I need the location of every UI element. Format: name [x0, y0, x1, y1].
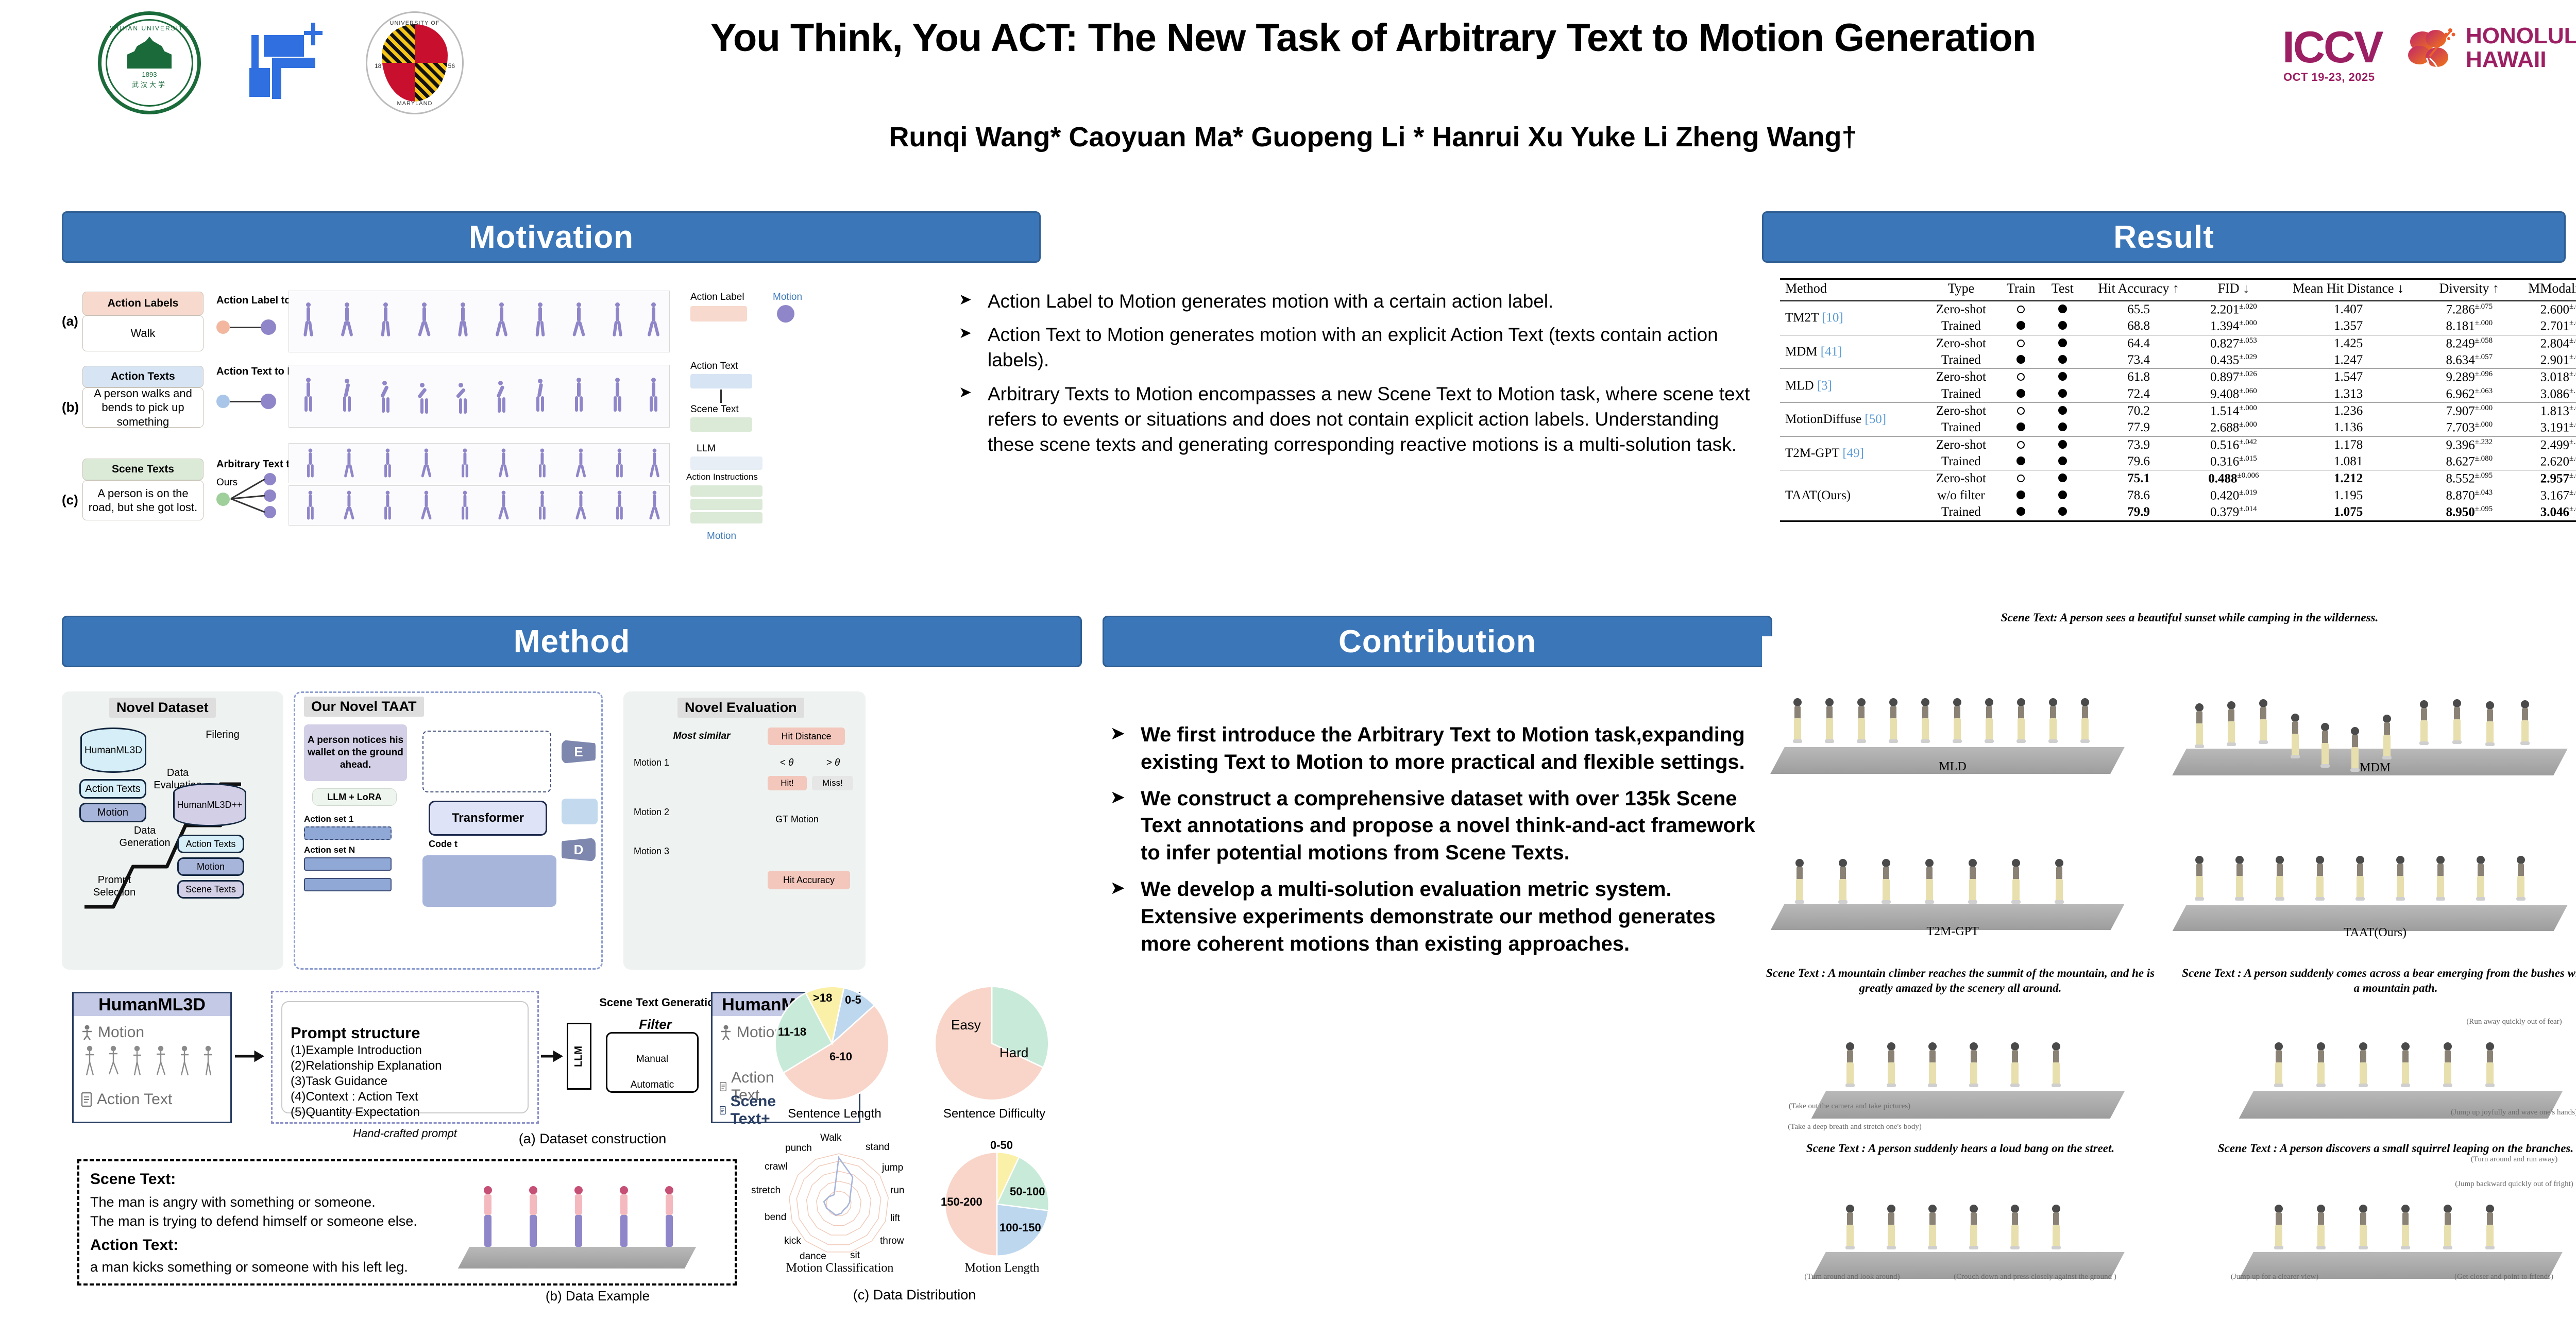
motivation-fan-edges-icon — [227, 469, 273, 526]
qualitative-subnote-6: (Crouch down and press closely against t… — [1927, 1273, 2143, 1281]
cell-mmodality: 3.191±.000 — [2513, 419, 2576, 436]
marker-filled-icon — [2016, 456, 2025, 465]
cell-test — [2044, 419, 2081, 436]
humanml3dpp-db-label: HumanML3D++ — [173, 800, 246, 811]
chart-caption-motion-length: Motion Length — [938, 1261, 1066, 1275]
radar-gridline — [817, 1181, 861, 1225]
results-table: Method Type Train Test Hit Accuracy ↑ FI… — [1780, 278, 2576, 522]
dataset-construction-caption: (a) Dataset construction — [433, 1131, 752, 1147]
cell-diversity: 9.396±.232 — [2426, 436, 2513, 453]
marker-filled-icon — [2058, 440, 2067, 449]
cell-hit-accuracy: 79.9 — [2081, 504, 2196, 521]
cell-mean-hit-distance: 1.236 — [2271, 402, 2426, 419]
lab-logo-bar-3 — [249, 68, 270, 97]
motivation-edge-b — [230, 401, 261, 402]
cell-train — [1998, 419, 2044, 436]
radar-gridline — [789, 1154, 888, 1252]
taat-quantizer-block — [562, 799, 598, 824]
document-plus-icon — [719, 1103, 726, 1118]
radar-gridline — [796, 1161, 880, 1245]
contribution-bullet-1: We first introduce the Arbitrary Text to… — [1108, 721, 1762, 776]
motivation-filmstrip-c2 — [289, 485, 670, 526]
qualitative-subnote-4: (Jump up joyfully and wave one's hands) — [2421, 1108, 2576, 1117]
taat-action-set-1-label: Action set 1 — [304, 814, 381, 824]
data-example-caption: (b) Data Example — [453, 1288, 742, 1304]
evaluation-threshold-gt: > θ — [815, 757, 851, 769]
evaluation-motion-1-label: Motion 1 — [634, 757, 690, 769]
motivation-node-a-out — [261, 319, 276, 335]
poster-header: WUHAN UNIVERSITY 1893 武汉大学 UNIVERSITY OF… — [0, 0, 2576, 180]
section-banner-method: Method — [62, 616, 1082, 667]
qualitative-subnote-2: (Take a deep breath and stretch one's bo… — [1762, 1123, 1947, 1131]
cell-train — [1998, 470, 2044, 487]
dc-prompt-title: Prompt structure — [291, 1024, 420, 1042]
cell-train — [1998, 352, 2044, 369]
cell-test — [2044, 402, 2081, 419]
motivation-card-body-b: A person walks and bends to pick up some… — [82, 387, 204, 428]
cell-test — [2044, 335, 2081, 352]
motivation-bullet-1: Action Label to Motion generates motion … — [956, 289, 1759, 314]
hml3dpp-item-action-texts: Action Texts — [177, 835, 244, 853]
taat-encoder-block: E — [562, 740, 596, 764]
radar-label-jump: jump — [882, 1162, 903, 1174]
qualitative-caption-2: Scene Text : A person suddenly comes acr… — [2179, 966, 2576, 996]
data-example-scene-line-1: The man is angry with something or someo… — [90, 1194, 376, 1210]
contribution-bullet-list: We first introduce the Arbitrary Text to… — [1108, 721, 1762, 967]
qualitative-main-caption: Scene Text: A person sees a beautiful su… — [1793, 611, 2576, 625]
cell-test — [2044, 369, 2081, 386]
dc-left-row-action-text-label: Action Text — [97, 1091, 172, 1108]
cell-type: w/o filter — [1924, 487, 1998, 504]
marker-open-icon — [2017, 340, 2025, 347]
cell-mmodality: 2.701±.000 — [2513, 318, 2576, 335]
cell-hit-accuracy: 77.9 — [2081, 419, 2196, 436]
cell-train — [1998, 453, 2044, 470]
lab-logo — [242, 21, 350, 108]
cell-mean-hit-distance: 1.081 — [2271, 453, 2426, 470]
evaluation-hit-distance-chip: Hit Distance — [768, 728, 845, 745]
motivation-flow-label-a-in: Action Label — [690, 292, 744, 303]
cell-train — [1998, 436, 2044, 453]
table-row: TM2T [10]Zero-shot65.52.201±.0201.4077.2… — [1780, 301, 2576, 318]
marker-filled-icon — [2058, 474, 2067, 482]
cell-method: T2M-GPT [49] — [1780, 436, 1924, 470]
cell-diversity: 8.181±.000 — [2426, 318, 2513, 335]
evaluation-miss-chip: Miss! — [812, 776, 853, 790]
pie-label-easy: Easy — [951, 1017, 981, 1033]
motivation-card-header-c: Scene Texts — [82, 459, 204, 480]
cell-hit-accuracy: 78.6 — [2081, 487, 2196, 504]
dc-scene-text-generation-label: Scene Text Generation — [526, 996, 721, 1009]
dancer-figure — [662, 1186, 677, 1253]
cell-hit-accuracy: 61.8 — [2081, 369, 2196, 386]
arrow-right-icon — [235, 1050, 269, 1063]
cell-mmodality: 2.499±.348 — [2513, 436, 2576, 453]
qualitative-subnote-5: (Turn around and look around) — [1767, 1273, 1937, 1281]
lab-logo-bar-5 — [272, 58, 315, 68]
taat-title: Our Novel TAAT — [304, 697, 424, 717]
cell-train — [1998, 318, 2044, 335]
evaluation-hit-chip: Hit! — [768, 776, 807, 790]
marker-open-icon — [2017, 306, 2025, 313]
cell-type: Zero-shot — [1924, 335, 1998, 352]
dancer-figure — [571, 1186, 586, 1253]
cell-mmodality: 3.167±.053 — [2513, 487, 2576, 504]
dc-llm-block: LLM — [567, 1023, 591, 1090]
dc-left-box-title: HumanML3D — [74, 993, 230, 1016]
marker-filled-icon — [2058, 491, 2067, 499]
evaluation-threshold-lt: < θ — [769, 757, 805, 769]
col-mean-hit-distance: Mean Hit Distance ↓ — [2271, 279, 2426, 301]
motivation-card-header-a: Action Labels — [82, 292, 204, 315]
chart-caption-sentence-length: Sentence Length — [762, 1107, 907, 1121]
cell-type: Zero-shot — [1924, 470, 1998, 487]
taat-codebook — [422, 855, 556, 907]
dc-filter-label: Filter — [614, 1017, 697, 1033]
qualitative-subnote-3: (Run away quickly out of fear) — [2427, 1018, 2576, 1026]
dc-left-row-motion: Motion — [80, 1024, 144, 1041]
motivation-node-b-out — [261, 394, 276, 409]
marker-filled-icon — [2016, 355, 2025, 364]
pie-chart-sentence-difficulty — [933, 984, 1051, 1103]
maryland-university-logo: UNIVERSITY OF 18 56 MARYLAND — [366, 11, 464, 114]
motivation-chip-b-in — [690, 374, 752, 388]
dc-left-row-action-text: Action Text — [80, 1091, 172, 1108]
motivation-figure: (a) Action Labels Walk Action Label to M… — [62, 289, 866, 587]
cell-type: Trained — [1924, 504, 1998, 521]
novel-evaluation-title: Novel Evaluation — [677, 698, 804, 718]
motivation-chip-instr-3 — [690, 512, 762, 523]
cell-method: MLD [3] — [1780, 369, 1924, 403]
data-example-action-label: Action Text: — [90, 1237, 178, 1254]
radar-label-punch: punch — [785, 1143, 812, 1154]
pie-label-ml-0-50: 0-50 — [990, 1139, 1013, 1152]
hml3dpp-item-scene-texts: Scene Texts — [177, 880, 244, 899]
section-banner-contribution: Contribution — [1103, 616, 1772, 667]
taat-scene-text: A person notices his wallet on the groun… — [304, 724, 407, 781]
cell-mean-hit-distance: 1.425 — [2271, 335, 2426, 352]
col-method: Method — [1780, 279, 1924, 301]
cell-method: MotionDiffuse [50] — [1780, 402, 1924, 436]
qualitative-subnote-10: (Get closer and point to friends) — [2406, 1273, 2576, 1281]
motivation-action-instructions-label: Action Instructions — [686, 472, 758, 482]
cell-mmodality: 1.813±.000 — [2513, 402, 2576, 419]
table-row: MotionDiffuse [50]Zero-shot70.21.514±.00… — [1780, 402, 2576, 419]
cell-train — [1998, 335, 2044, 352]
cell-fid: 0.379±.014 — [2196, 504, 2271, 521]
cell-fid: 0.516±.042 — [2196, 436, 2271, 453]
cell-diversity: 8.950±.095 — [2426, 504, 2513, 521]
motivation-card-header-b: Action Texts — [82, 366, 204, 387]
cell-test — [2044, 318, 2081, 335]
radar-label-bend: bend — [765, 1212, 786, 1223]
contribution-bullet-3: We develop a multi-solution evaluation m… — [1108, 876, 1762, 957]
motivation-filmstrip-b — [289, 365, 670, 428]
lab-logo-plus-icon-h — [304, 31, 323, 35]
col-diversity: Diversity ↑ — [2426, 279, 2513, 301]
motivation-bullet-list: Action Label to Motion generates motion … — [956, 289, 1759, 465]
motivation-node-b-in — [216, 395, 230, 408]
qualitative-method-label-taat: TAAT(Ours) — [2164, 926, 2576, 940]
cell-mean-hit-distance: 1.075 — [2271, 504, 2426, 521]
motivation-flow-label-a-out: Motion — [773, 292, 802, 303]
col-type: Type — [1924, 279, 1998, 301]
cell-test — [2044, 436, 2081, 453]
evaluation-hit-accuracy-chip: Hit Accuracy — [768, 871, 850, 889]
qualitative-panel-r2c2: (Run away quickly out of fear) (Jump up … — [2179, 1002, 2576, 1136]
cell-mmodality: 3.018±.028 — [2513, 369, 2576, 386]
marker-filled-icon — [2058, 305, 2067, 313]
cell-mean-hit-distance: 1.357 — [2271, 318, 2426, 335]
qualitative-panel-r3c1: (Turn around and look around) (Crouch do… — [1757, 1170, 2159, 1298]
cell-test — [2044, 301, 2081, 318]
cell-diversity: 8.249±.058 — [2426, 335, 2513, 352]
document-icon-2 — [719, 1079, 727, 1094]
cell-type: Trained — [1924, 419, 1998, 436]
table-row: T2M-GPT [49]Zero-shot73.90.516±.0421.178… — [1780, 436, 2576, 453]
hibiscus-flower-icon — [2400, 18, 2462, 80]
evaluation-motion-3-label: Motion 3 — [634, 846, 690, 857]
motivation-card-body-a: Walk — [82, 315, 204, 351]
motivation-llm-label: LLM — [697, 443, 716, 454]
marker-open-icon — [2017, 475, 2025, 482]
marker-filled-icon — [2058, 339, 2067, 347]
cell-diversity: 8.627±.080 — [2426, 453, 2513, 470]
col-fid: FID ↓ — [2196, 279, 2271, 301]
radar-label-walk: Walk — [820, 1132, 842, 1144]
marker-open-icon — [2017, 441, 2025, 449]
evaluation-motion-2-label: Motion 2 — [634, 807, 690, 818]
cell-test — [2044, 386, 2081, 403]
radar-label-kick: kick — [784, 1236, 801, 1247]
taat-llm-lora: LLM + LoRA — [312, 788, 397, 806]
marker-filled-icon — [2058, 507, 2067, 516]
person-icon — [80, 1025, 94, 1040]
umd-logo-year-left: 18 — [375, 62, 381, 70]
motivation-flow-label-b-mid: Scene Text — [690, 404, 739, 415]
motivation-edge-a — [230, 327, 261, 328]
radar-gridline — [826, 1191, 851, 1216]
radar-label-run: run — [890, 1185, 904, 1196]
radar-series — [824, 1158, 853, 1215]
pie-label-ml-100-150: 100-150 — [999, 1221, 1041, 1235]
cell-hit-accuracy: 70.2 — [2081, 402, 2196, 419]
motivation-row-tag-a: (a) — [62, 313, 78, 329]
cell-diversity: 7.703±.000 — [2426, 419, 2513, 436]
radar-label-throw: throw — [880, 1236, 904, 1247]
poster-authors: Runqi Wang* Caoyuan Ma* Guopeng Li * Han… — [515, 121, 2231, 153]
taat-decoder-block: D — [562, 838, 596, 861]
cell-method: MDM [41] — [1780, 335, 1924, 369]
cell-train — [1998, 487, 2044, 504]
dc-prompt-item-2: (2)Relationship Explanation — [291, 1059, 442, 1073]
cell-diversity: 6.962±.063 — [2426, 386, 2513, 403]
wuhan-university-logo: WUHAN UNIVERSITY 1893 武汉大学 — [98, 11, 201, 114]
radar-label-dance: dance — [800, 1251, 826, 1262]
qualitative-caption-3: Scene Text : A person suddenly hears a l… — [1757, 1141, 2164, 1156]
marker-filled-icon — [2058, 456, 2067, 465]
results-table-container: Method Type Train Test Hit Accuracy ↑ FI… — [1780, 278, 2576, 522]
motivation-card-body-c: A person is on the road, but she got los… — [82, 480, 204, 520]
marker-filled-icon — [2016, 422, 2025, 431]
motivation-chip-a-out — [777, 305, 794, 323]
cell-mmodality: 2.804±.052 — [2513, 335, 2576, 352]
document-icon — [80, 1092, 93, 1107]
qualitative-subnote-7: (Jump backward quickly out of fright) — [2421, 1180, 2576, 1189]
hml3dpp-item-motion: Motion — [177, 857, 244, 876]
cell-fid: 9.408±.060 — [2196, 386, 2271, 403]
motivation-chip-instr-1 — [690, 485, 762, 497]
chart-caption-motion-classification: Motion Classification — [762, 1261, 917, 1275]
pie-label-hard: Hard — [999, 1045, 1028, 1061]
motivation-flow-label-b-in: Action Text — [690, 361, 738, 372]
pie-label-sl-11-18: 11-18 — [778, 1025, 806, 1039]
cell-mmodality: 2.901±.055 — [2513, 352, 2576, 369]
motivation-chip-b-mid — [690, 417, 752, 432]
cell-mmodality: 2.957±.070 — [2513, 470, 2576, 487]
marker-filled-icon — [2016, 491, 2025, 499]
col-train: Train — [1998, 279, 2044, 301]
cell-fid: 0.488±0.006 — [2196, 470, 2271, 487]
cell-test — [2044, 487, 2081, 504]
cell-fid: 0.420±.019 — [2196, 487, 2271, 504]
cell-train — [1998, 386, 2044, 403]
marker-filled-icon — [2016, 389, 2025, 398]
marker-filled-icon — [2058, 389, 2067, 398]
novel-dataset-title: Novel Dataset — [109, 698, 216, 718]
umd-logo-year-right: 56 — [448, 62, 455, 70]
taat-action-set-extra-bar — [304, 878, 392, 891]
cell-method: TAAT(Ours) — [1780, 470, 1924, 521]
cell-mean-hit-distance: 1.247 — [2271, 352, 2426, 369]
data-example-motion-figures — [433, 1170, 721, 1280]
radar-label-crawl: crawl — [765, 1161, 787, 1173]
cell-mean-hit-distance: 1.407 — [2271, 301, 2426, 318]
cell-mean-hit-distance: 1.136 — [2271, 419, 2426, 436]
section-banner-motivation: Motivation — [62, 211, 1041, 263]
radar-label-stretch: stretch — [751, 1185, 781, 1196]
section-banner-result: Result — [1762, 211, 2566, 263]
dataset-construction-figure: HumanML3D Motion Action Text — [72, 976, 737, 1141]
cell-method: TM2T [10] — [1780, 301, 1924, 335]
radar-label-lift: lift — [890, 1213, 900, 1224]
cell-fid: 2.688±.000 — [2196, 419, 2271, 436]
taat-action-set-1-bar — [304, 826, 392, 840]
cell-hit-accuracy: 73.4 — [2081, 352, 2196, 369]
cell-mmodality: 2.600±.094 — [2513, 301, 2576, 318]
cell-diversity: 8.870±.043 — [2426, 487, 2513, 504]
table-row: MLD [3]Zero-shot61.80.897±.0261.5479.289… — [1780, 369, 2576, 386]
table-row: MDM [41]Zero-shot64.40.827±.0531.4258.24… — [1780, 335, 2576, 352]
evaluation-gt-motion-label: GT Motion — [758, 814, 836, 825]
cell-type: Zero-shot — [1924, 301, 1998, 318]
dc-filter-manual-label: Manual — [606, 1054, 699, 1065]
motion-stick-figures-icon — [81, 1043, 226, 1079]
marker-filled-icon — [2058, 422, 2067, 431]
motivation-chip-llm — [690, 456, 762, 470]
cell-fid: 0.827±.053 — [2196, 335, 2271, 352]
qualitative-caption-1: Scene Text : A mountain climber reaches … — [1757, 966, 2164, 996]
cell-fid: 0.435±.029 — [2196, 352, 2271, 369]
cell-diversity: 7.907±.000 — [2426, 402, 2513, 419]
qualitative-method-label-mdm: MDM — [2164, 761, 2576, 775]
col-hit-accuracy: Hit Accuracy ↑ — [2081, 279, 2196, 301]
iccv-date: OCT 19-23, 2025 — [2283, 71, 2375, 84]
dc-prompt-item-5: (5)Quantity Expectation — [291, 1105, 420, 1120]
cell-diversity: 8.552±.095 — [2426, 470, 2513, 487]
qualitative-method-label-mld: MLD — [1762, 760, 2143, 774]
dc-left-row-motion-label: Motion — [98, 1024, 144, 1041]
iccv-wordmark: ICCV — [2282, 22, 2382, 73]
cell-train — [1998, 504, 2044, 521]
chart-caption-sentence-difficulty: Sentence Difficulty — [922, 1107, 1066, 1121]
marker-filled-icon — [2058, 372, 2067, 381]
cell-fid: 1.514±.000 — [2196, 402, 2271, 419]
poster-root: WUHAN UNIVERSITY 1893 武汉大学 UNIVERSITY OF… — [0, 0, 2576, 1319]
dancer-figure — [526, 1186, 541, 1253]
iccv-logo: ICCV OCT 19-23, 2025 HONOLULU HAWAII — [2282, 13, 2576, 95]
dc-filter-automatic-label: Automatic — [606, 1079, 699, 1091]
marker-filled-icon — [2058, 321, 2067, 330]
cell-test — [2044, 453, 2081, 470]
dc-prompt-item-3: (3)Task Guidance — [291, 1074, 387, 1089]
cell-train — [1998, 369, 2044, 386]
qualitative-panel-t2mgpt — [1762, 801, 2143, 945]
taat-transformer-block: Transformer — [429, 801, 547, 836]
cell-type: Zero-shot — [1924, 369, 1998, 386]
cell-test — [2044, 504, 2081, 521]
motivation-bullet-3: Arbitrary Texts to Motion encompasses a … — [956, 381, 1759, 458]
motivation-filmstrip-c1 — [289, 443, 670, 483]
qualitative-results: Scene Text: A person sees a beautiful su… — [1752, 611, 2576, 1311]
cell-hit-accuracy: 79.6 — [2081, 453, 2196, 470]
iccv-city: HONOLULU HAWAII — [2466, 24, 2576, 72]
cell-hit-accuracy: 65.5 — [2081, 301, 2196, 318]
cell-mmodality: 3.086±.130 — [2513, 386, 2576, 403]
cell-hit-accuracy: 72.4 — [2081, 386, 2196, 403]
evaluation-most-similar-label: Most similar — [655, 731, 748, 742]
cell-fid: 0.316±.015 — [2196, 453, 2271, 470]
taat-action-set-n-label: Action set N — [304, 845, 381, 855]
pie-label-ml-50-100: 50-100 — [1010, 1185, 1045, 1198]
cell-test — [2044, 470, 2081, 487]
cell-type: Zero-shot — [1924, 402, 1998, 419]
qualitative-panel-r2c1: (Take out the camera and take pictures) … — [1757, 1002, 2159, 1136]
qualitative-subnote-8: (Turn around and run away) — [2427, 1155, 2576, 1164]
cell-fid: 2.201±.020 — [2196, 301, 2271, 318]
pie-label-sl-gt18: >18 — [813, 991, 832, 1005]
motivation-edge-b-down — [720, 390, 722, 403]
pie-label-ml-150-200: 150-200 — [941, 1195, 982, 1209]
motivation-row-tag-c: (c) — [62, 492, 78, 508]
cell-train — [1998, 402, 2044, 419]
cell-fid: 1.394±.000 — [2196, 318, 2271, 335]
cell-mean-hit-distance: 1.547 — [2271, 369, 2426, 386]
qualitative-subnote-1: (Take out the camera and take pictures) — [1767, 1102, 1932, 1111]
arrow-right-icon-2 — [541, 1050, 567, 1063]
cell-hit-accuracy: 73.9 — [2081, 436, 2196, 453]
cell-mean-hit-distance: 1.178 — [2271, 436, 2426, 453]
taat-code-label: Code t — [429, 839, 490, 850]
contribution-bullet-2: We construct a comprehensive dataset wit… — [1108, 785, 1762, 867]
marker-filled-icon — [2058, 355, 2067, 364]
cell-type: Trained — [1924, 453, 1998, 470]
table-row: TAAT(Ours)Zero-shot75.10.488±0.0061.2128… — [1780, 470, 2576, 487]
wuhan-logo-cn-text: 武汉大学 — [132, 79, 167, 89]
person-icon-2 — [719, 1025, 733, 1040]
motivation-filmstrip-a — [289, 291, 670, 352]
cell-type: Zero-shot — [1924, 436, 1998, 453]
